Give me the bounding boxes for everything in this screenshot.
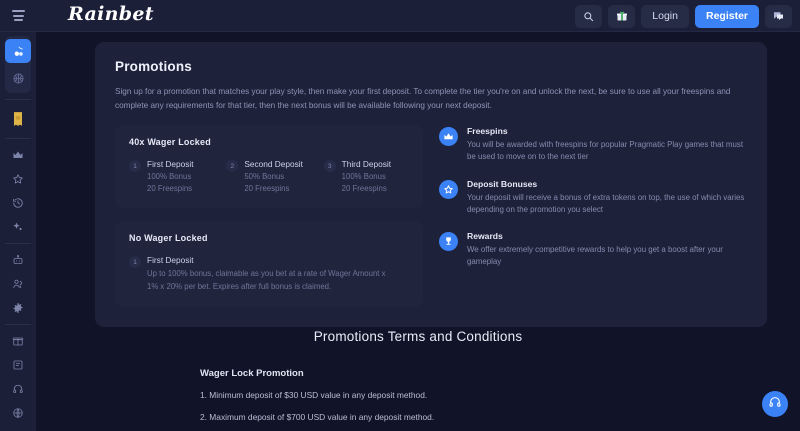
promotions-description: Sign up for a promotion that matches you… — [115, 85, 751, 112]
feature-freespins: Freespins You will be awarded with frees… — [439, 126, 747, 164]
sidebar-item-providers[interactable] — [5, 248, 31, 272]
search-button[interactable] — [575, 5, 602, 28]
tier-name: First Deposit — [147, 159, 194, 169]
tier-card-title: No Wager Locked — [129, 233, 409, 243]
robot-icon — [12, 254, 24, 266]
sidebar-item-language[interactable] — [5, 401, 31, 425]
terms-list: 1. Minimum deposit of $30 USD value in a… — [200, 390, 800, 431]
sidebar-item-bonus[interactable] — [5, 329, 31, 353]
feature-title: Rewards — [467, 231, 745, 241]
tier-number: 3 — [324, 160, 336, 172]
tier-row: 1 First Deposit Up to 100% bonus, claima… — [129, 255, 409, 292]
sidebar-item-affiliate[interactable] — [5, 272, 31, 296]
feature-title: Freespins — [467, 126, 745, 136]
tier-item: 1 First Deposit Up to 100% bonus, claima… — [129, 255, 409, 292]
top-bar: Rainbet — [0, 0, 800, 32]
headset-icon — [12, 383, 24, 395]
ticket-icon — [11, 111, 25, 127]
sidebar-item-favorites[interactable] — [5, 167, 31, 191]
tier-item: 1 First Deposit 100% Bonus 20 Freespins — [129, 159, 214, 194]
clock-history-icon — [12, 197, 24, 209]
crown-badge-icon — [439, 127, 458, 146]
feature-rewards: Rewards We offer extremely competitive r… — [439, 231, 747, 269]
sidebar-item-settings[interactable] — [5, 296, 31, 320]
sidebar-item-casino[interactable] — [5, 39, 31, 63]
tier-detail: 50% Bonus 20 Freespins — [244, 171, 303, 194]
brand-logo[interactable]: Rainbet — [68, 3, 154, 25]
sparkle-icon — [12, 221, 24, 233]
sidebar-item-support[interactable] — [5, 377, 31, 401]
tier-name: First Deposit — [147, 255, 395, 265]
trophy-badge-icon — [439, 232, 458, 251]
gift-icon — [616, 10, 628, 22]
terms-list-item: 2. Maximum deposit of $700 USD value in … — [200, 412, 800, 422]
article-icon — [12, 359, 24, 371]
tier-item: 3 Third Deposit 100% Bonus 20 Freespins — [324, 159, 409, 194]
chat-button[interactable] — [765, 5, 792, 28]
top-bar-actions: Login Register — [575, 0, 792, 32]
gift-button[interactable] — [608, 5, 635, 28]
star-icon — [12, 173, 24, 185]
tier-card-title: 40x Wager Locked — [129, 137, 409, 147]
feature-description: You will be awarded with freespins for p… — [467, 139, 745, 164]
tier-detail: 100% Bonus 20 Freespins — [147, 171, 194, 194]
terms-section: Promotions Terms and Conditions Wager Lo… — [36, 329, 800, 431]
feature-title: Deposit Bonuses — [467, 179, 745, 189]
gift-box-icon — [12, 335, 24, 347]
tier-number: 2 — [226, 160, 238, 172]
feature-deposit-bonuses: Deposit Bonuses Your deposit will receiv… — [439, 179, 747, 217]
sidebar-item-vip[interactable] — [5, 143, 31, 167]
tier-number: 1 — [129, 256, 141, 268]
sidebar-divider-4 — [5, 324, 31, 325]
terms-subheading: Wager Lock Promotion — [200, 368, 800, 379]
search-icon — [583, 11, 594, 22]
tier-number: 1 — [129, 160, 141, 172]
login-button[interactable]: Login — [641, 5, 689, 28]
cherry-icon — [12, 45, 25, 58]
sidebar-divider — [5, 99, 31, 100]
page-content: Promotions Sign up for a promotion that … — [36, 32, 800, 431]
sidebar-item-blog[interactable] — [5, 353, 31, 377]
promotions-panel: Promotions Sign up for a promotion that … — [95, 42, 767, 327]
sidebar — [0, 32, 36, 431]
promotions-columns: 40x Wager Locked 1 First Deposit 100% Bo… — [115, 125, 747, 307]
tier-row: 1 First Deposit 100% Bonus 20 Freespins … — [129, 159, 409, 194]
app-root: Rainbet — [0, 0, 800, 431]
promotions-tier-cards: 40x Wager Locked 1 First Deposit 100% Bo… — [115, 125, 423, 307]
hamburger-icon[interactable] — [0, 0, 36, 32]
sidebar-item-originals[interactable] — [5, 215, 31, 239]
sidebar-divider-3 — [5, 243, 31, 244]
terms-heading: Promotions Terms and Conditions — [36, 329, 800, 344]
people-icon — [12, 278, 24, 290]
sidebar-item-sports[interactable] — [5, 66, 31, 90]
gear-icon — [12, 302, 24, 314]
tier-card-no-wager-locked: No Wager Locked 1 First Deposit Up to 10… — [115, 221, 423, 306]
globe-icon — [12, 407, 24, 419]
tier-detail: 100% Bonus 20 Freespins — [342, 171, 391, 194]
feature-description: We offer extremely competitive rewards t… — [467, 244, 745, 269]
tier-name: Third Deposit — [342, 159, 391, 169]
page-title: Promotions — [115, 59, 747, 74]
star-badge-icon — [439, 180, 458, 199]
support-chat-button[interactable] — [762, 391, 788, 417]
sidebar-item-recent[interactable] — [5, 191, 31, 215]
promotions-features: Freespins You will be awarded with frees… — [439, 125, 747, 307]
crown-icon — [12, 149, 24, 161]
chat-bubbles-icon — [772, 10, 785, 22]
tier-card-wager-locked: 40x Wager Locked 1 First Deposit 100% Bo… — [115, 125, 423, 208]
sidebar-item-promotions[interactable] — [5, 104, 31, 134]
basketball-icon — [12, 72, 25, 85]
terms-list-item: 1. Minimum deposit of $30 USD value in a… — [200, 390, 800, 400]
tier-detail: Up to 100% bonus, claimable as you bet a… — [147, 268, 395, 292]
headset-icon — [768, 395, 782, 414]
sidebar-primary-group — [5, 36, 31, 93]
tier-item: 2 Second Deposit 50% Bonus 20 Freespins — [226, 159, 311, 194]
feature-description: Your deposit will receive a bonus of ext… — [467, 192, 745, 217]
register-button[interactable]: Register — [695, 5, 759, 28]
sidebar-divider-2 — [5, 138, 31, 139]
tier-name: Second Deposit — [244, 159, 303, 169]
